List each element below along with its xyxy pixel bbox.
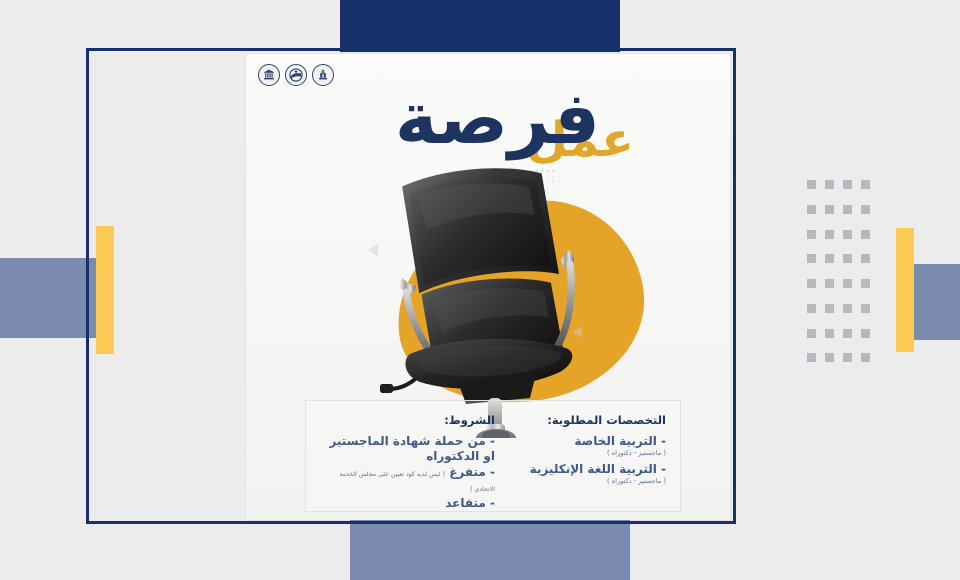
ministry-emblem-logo	[312, 64, 334, 86]
conditions-column: الشروط: - من حملة شهادة الماجستير او الد…	[320, 413, 495, 511]
condition-item-title: - متفرغ ( ليس لديه كود تعيين على مجلس ال…	[324, 465, 495, 495]
specialty-item-note: ( ماجستير - دكتوراه )	[495, 478, 666, 486]
university-globe-logo	[285, 64, 307, 86]
condition-item-title: - متقاعد	[324, 496, 495, 511]
slate-bar-right	[912, 264, 960, 340]
specialties-column: التخصصات المطلوبة: - التربية الخاصة ( ما…	[495, 413, 666, 511]
specialties-heading: التخصصات المطلوبة:	[495, 413, 666, 427]
slate-bar-left	[0, 258, 100, 338]
specialty-item-title: - التربية الخاصة	[495, 434, 666, 449]
condition-item-label: - متفرغ	[449, 465, 495, 479]
yellow-bar-right	[896, 228, 914, 352]
college-building-logo	[258, 64, 280, 86]
conditions-heading: الشروط:	[324, 413, 495, 427]
info-box: التخصصات المطلوبة: - التربية الخاصة ( ما…	[305, 400, 681, 512]
poster-headline: فرصة عمل	[395, 82, 600, 164]
specialty-item-note: ( ماجستير - دكتوراه )	[495, 450, 666, 458]
specialty-item-title: - التربية اللغة الإنكليزية	[495, 462, 666, 477]
headline-main-word: فرصة	[395, 82, 600, 154]
navy-top-block	[340, 0, 620, 52]
office-chair-photo	[354, 158, 624, 438]
poster-card: فرصة عمل	[246, 54, 730, 520]
logo-row	[258, 64, 334, 86]
dot-grid-pattern	[798, 180, 870, 378]
condition-item-title: - من حملة شهادة الماجستير او الدكتوراه	[324, 434, 495, 464]
